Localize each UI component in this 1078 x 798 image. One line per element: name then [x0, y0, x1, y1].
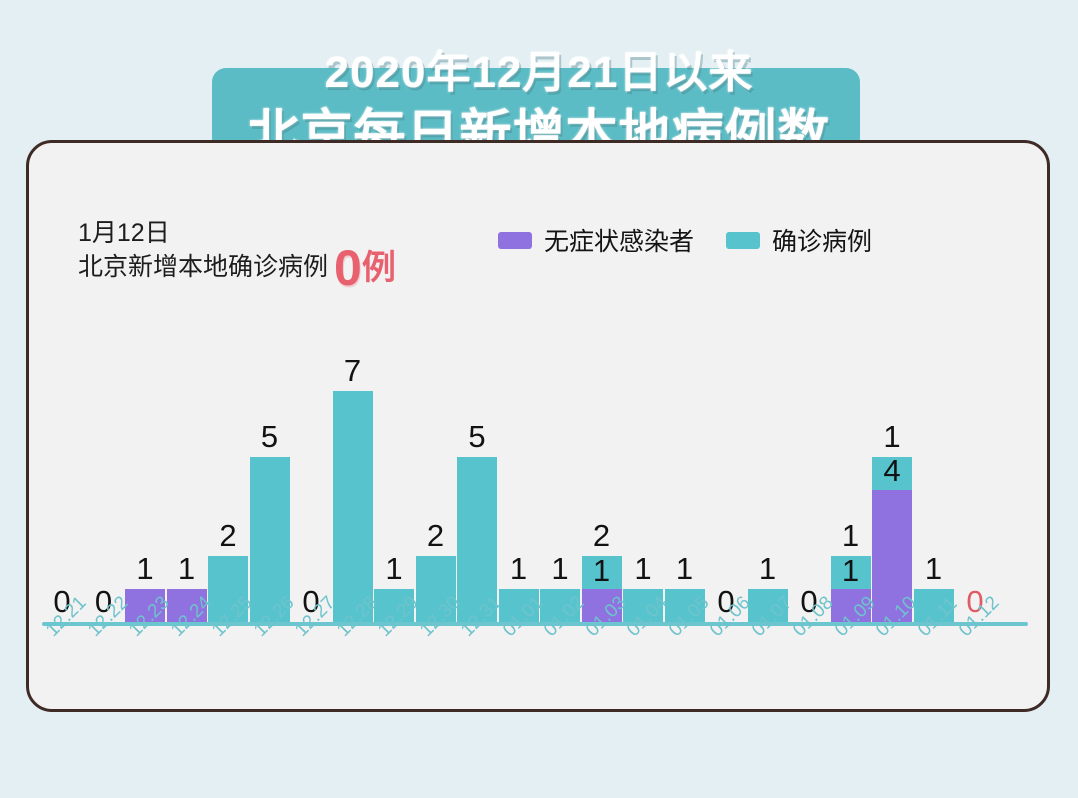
- bar-slot[interactable]: 5: [248, 330, 292, 622]
- bar-slot[interactable]: 0: [82, 330, 126, 622]
- bar-value-label: 1: [136, 553, 153, 584]
- bar-slot[interactable]: 0: [787, 330, 831, 622]
- bar-slot[interactable]: 14: [870, 330, 914, 622]
- bar-value-label: 1: [385, 553, 402, 584]
- bar-slot[interactable]: 21: [580, 330, 624, 622]
- bar-value-label: 1: [551, 553, 568, 584]
- bar-slot[interactable]: 1: [621, 330, 665, 622]
- bar-value-label: 7: [344, 355, 361, 386]
- x-axis-tick-labels: 12.2112.2212.2312.2412.2512.2612.2712.28…: [42, 626, 1038, 696]
- chart-legend: 无症状感染者 确诊病例: [498, 222, 872, 258]
- bar-slot[interactable]: 7: [331, 330, 375, 622]
- bar-slot[interactable]: 11: [829, 330, 873, 622]
- legend-label-asymptomatic: 无症状感染者: [544, 222, 694, 258]
- bar-slot[interactable]: 1: [538, 330, 582, 622]
- bar-slot[interactable]: 1: [746, 330, 790, 622]
- title-line-1: 2020年12月21日以来: [0, 36, 1078, 100]
- bar-slot[interactable]: 1: [165, 330, 209, 622]
- legend-item-confirmed[interactable]: 确诊病例: [726, 222, 872, 258]
- bar-value-label: 1: [842, 520, 859, 551]
- bar-inner-value-label: 1: [829, 555, 873, 586]
- bar-slot[interactable]: 1: [372, 330, 416, 622]
- subtitle-highlight-number: 0: [334, 240, 362, 296]
- bar-value-label: 1: [759, 553, 776, 584]
- bar-value-label: 5: [261, 421, 278, 452]
- subtitle-text: 北京新增本地确诊病例: [78, 253, 328, 281]
- bar-value-label: 1: [634, 553, 651, 584]
- bar-value-label: 5: [468, 421, 485, 452]
- bar-value-label: 1: [178, 553, 195, 584]
- bar-inner-value-label: 4: [870, 455, 914, 486]
- bar-slot[interactable]: 1: [663, 330, 707, 622]
- bar-stack: [333, 391, 373, 622]
- bar-slot[interactable]: 0: [704, 330, 748, 622]
- bar-slot[interactable]: 1: [497, 330, 541, 622]
- legend-swatch-confirmed: [726, 232, 760, 249]
- legend-swatch-asymptomatic: [498, 232, 532, 249]
- bar-slot[interactable]: 1: [123, 330, 167, 622]
- bar-value-label: 2: [593, 520, 610, 551]
- bar-slot[interactable]: 2: [206, 330, 250, 622]
- bar-segment-confirmed: [333, 391, 373, 622]
- bar-slot[interactable]: 5: [455, 330, 499, 622]
- legend-item-asymptomatic[interactable]: 无症状感染者: [498, 222, 694, 258]
- bar-value-label: 1: [676, 553, 693, 584]
- subtitle-text-row: 北京新增本地确诊病例0例: [78, 250, 396, 285]
- bar-slot[interactable]: 0: [953, 330, 997, 622]
- subtitle-highlight-unit: 例: [362, 249, 396, 287]
- bar-slot[interactable]: 1: [912, 330, 956, 622]
- bar-chart-plot: 00112507125112111010111410: [42, 330, 1038, 622]
- bar-value-label: 1: [510, 553, 527, 584]
- bar-slot[interactable]: 2: [414, 330, 458, 622]
- bar-inner-value-label: 1: [580, 555, 624, 586]
- bar-slot[interactable]: 0: [40, 330, 84, 622]
- bar-value-label: 2: [427, 520, 444, 551]
- bar-value-label: 1: [925, 553, 942, 584]
- bar-value-label: 1: [883, 421, 900, 452]
- bar-value-label: 2: [219, 520, 236, 551]
- subtitle-block: 1月12日 北京新增本地确诊病例0例: [78, 216, 396, 285]
- legend-label-confirmed: 确诊病例: [772, 222, 872, 258]
- bar-slot[interactable]: 0: [289, 330, 333, 622]
